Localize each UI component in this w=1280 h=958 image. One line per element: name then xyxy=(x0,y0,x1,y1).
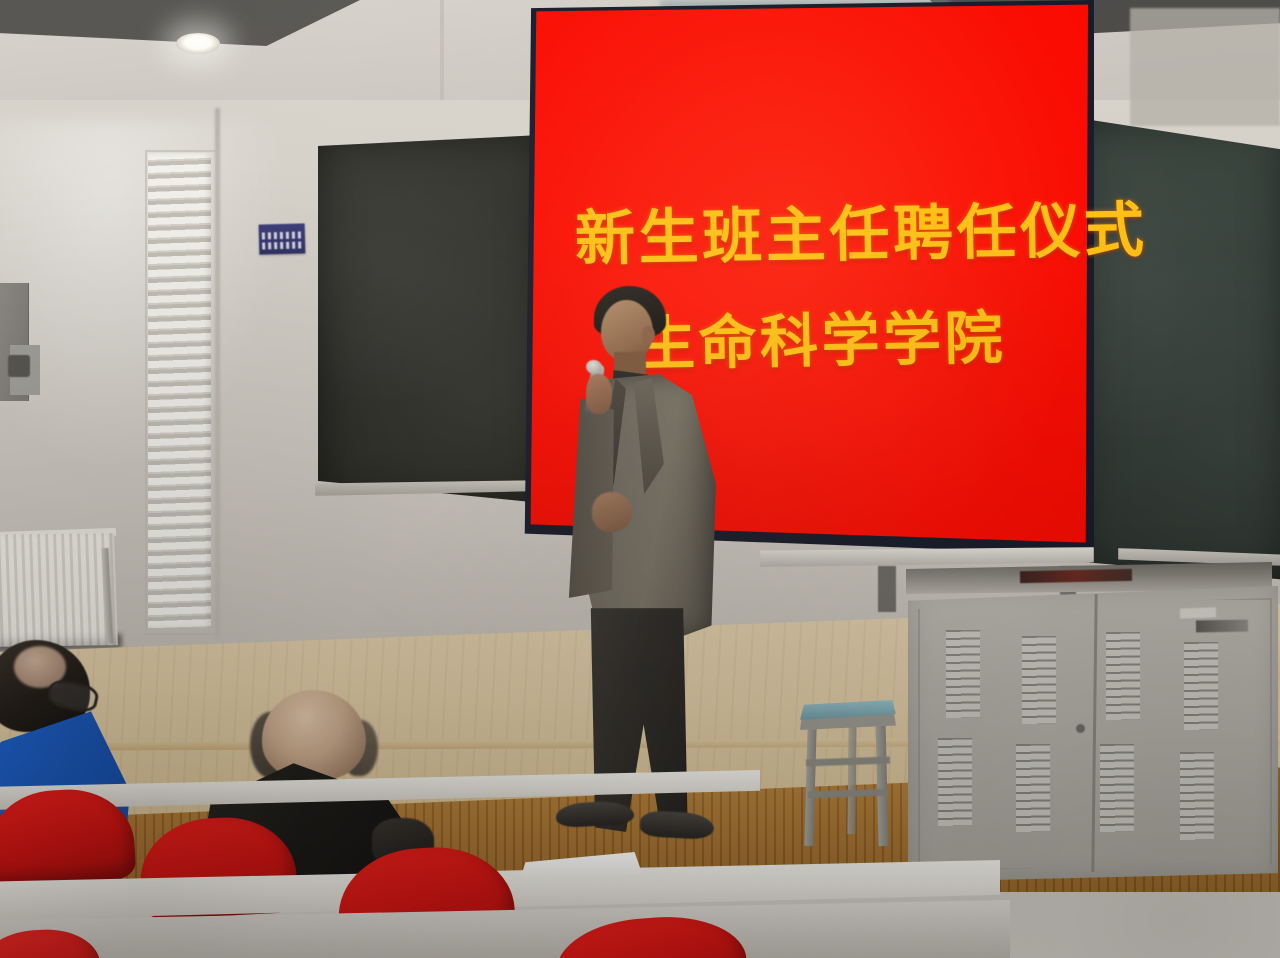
blackboard-surface-texture xyxy=(1078,118,1280,580)
cabinet-handle[interactable] xyxy=(1180,607,1216,618)
cabinet-vent-louver xyxy=(938,738,972,826)
plaque-text-line-1 xyxy=(262,231,302,239)
plaque-text-line-2 xyxy=(262,241,302,249)
speaker xyxy=(548,278,728,834)
cabinet-vent-louver xyxy=(1180,752,1214,840)
speaker-shoe xyxy=(639,810,714,840)
blackboard-surface-texture xyxy=(318,135,542,503)
cabinet-top-equipment-panel xyxy=(1020,569,1132,583)
blackboard-right xyxy=(1078,118,1280,580)
speaker-trousers xyxy=(582,608,692,832)
cabinet-vent-louver xyxy=(1016,744,1050,832)
cabinet-vent-louver xyxy=(1100,744,1134,832)
speaker-hand xyxy=(586,374,612,414)
wall-panel-right xyxy=(1130,8,1280,126)
speaker-hands xyxy=(592,492,632,532)
cabinet-vent-louver xyxy=(1106,632,1140,720)
cabinet-vent-louver xyxy=(1022,636,1056,724)
cabinet-lock-icon[interactable] xyxy=(1076,724,1085,733)
lecture-hall-photo: 新生班主任聘任仪式 生命科学学院 xyxy=(0,0,1280,958)
cabinet-label-plate xyxy=(1196,620,1248,633)
stool-leg xyxy=(847,722,856,834)
blackboard-left xyxy=(318,135,542,503)
column-radiator xyxy=(0,533,118,647)
louvered-vent-panel xyxy=(148,153,211,628)
cabinet-vent-louver xyxy=(1184,642,1218,730)
blue-wall-plaque xyxy=(259,223,306,254)
speaker-ear xyxy=(642,326,655,344)
cabinet-vent-louver xyxy=(946,630,980,718)
screen-support-bracket xyxy=(878,566,896,612)
wall-box-knob xyxy=(8,355,30,377)
ceiling-downlight-icon xyxy=(176,33,220,54)
